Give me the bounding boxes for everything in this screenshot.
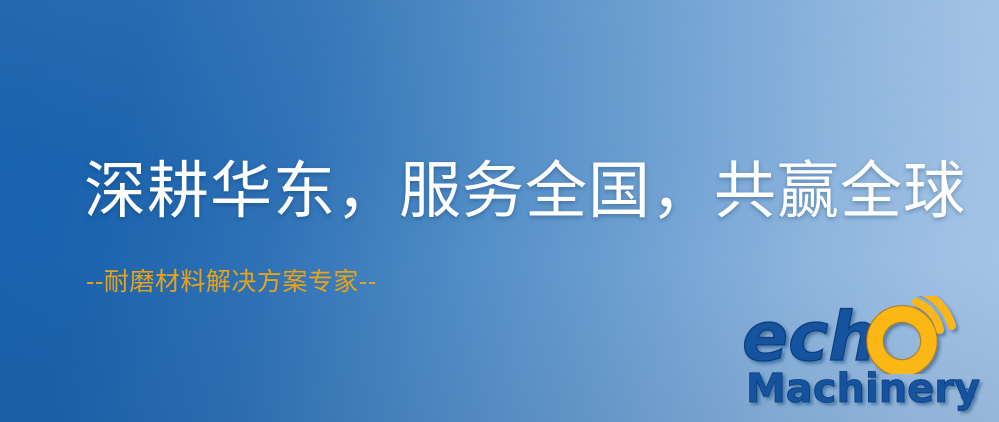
banner-headline: 深耕华东，服务全国，共赢全球 (84, 152, 966, 230)
logo-letter-o-outline-inner (883, 322, 920, 359)
banner-subtitle: --耐磨材料解决方案专家-- (86, 266, 377, 298)
logo-wordmark-machinery: Machinery ® (746, 364, 992, 416)
logo-text-machinery: Machinery (746, 366, 980, 412)
logo-wordmark-echo: ech (742, 296, 992, 374)
logo-text-ech: ech (742, 298, 877, 374)
promotional-banner: 深耕华东，服务全国，共赢全球 --耐磨材料解决方案专家-- ech (0, 0, 999, 422)
echo-machinery-logo[interactable]: ech Machinery ® (742, 296, 992, 418)
logo-registered-mark: ® (958, 385, 977, 407)
